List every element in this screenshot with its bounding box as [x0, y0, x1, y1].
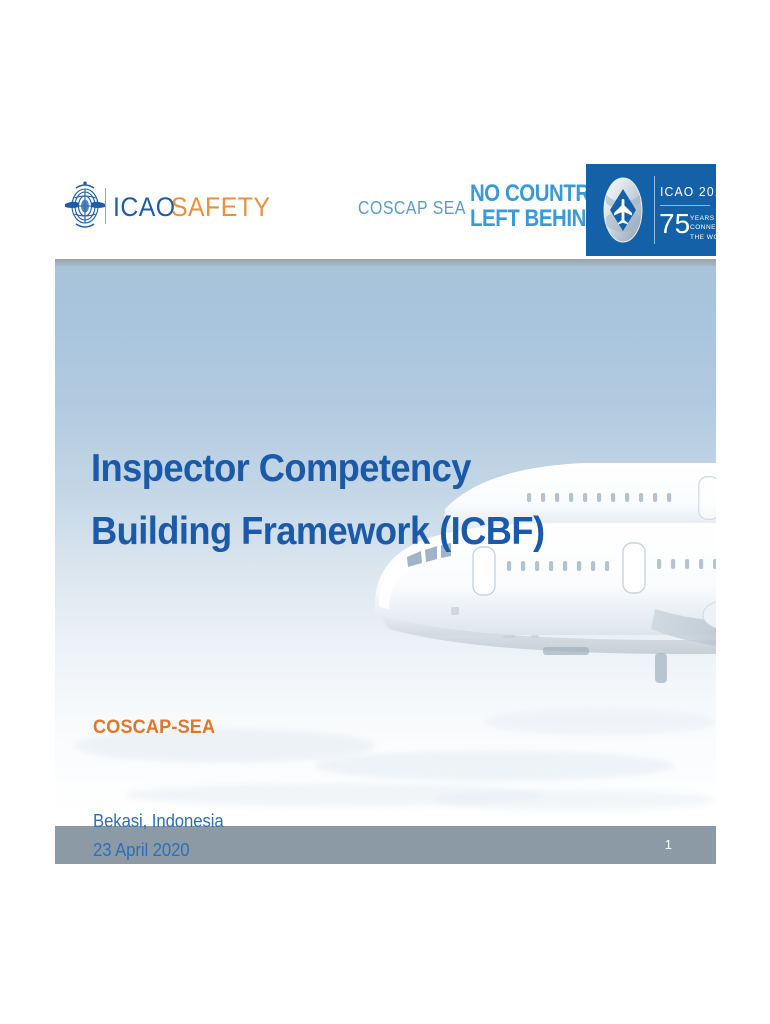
badge-tagline-line-1: YEARS OF [690, 214, 716, 223]
icao-emblem-icon [63, 180, 107, 232]
badge-tagline-line-3: THE WORLD [690, 233, 716, 242]
page-number: 1 [665, 837, 672, 852]
date-label: 23 April 2020 [93, 836, 224, 864]
badge-horizontal-divider [660, 205, 710, 206]
badge-anniversary-number: 75 [659, 210, 690, 238]
title-line-2: Building Framework (ICBF) [91, 500, 584, 563]
presentation-slide: ICAO SAFETY COSCAP SEA NO COUNTRY LEFT B… [55, 160, 716, 864]
badge-tagline: YEARS OF CONNECTING THE WORLD [690, 214, 716, 242]
cloud-band-2 [315, 751, 675, 781]
slide-body: Inspector Competency Building Framework … [55, 259, 716, 864]
slide-page: ICAO SAFETY COSCAP SEA NO COUNTRY LEFT B… [0, 0, 770, 1024]
badge-tagline-line-2: CONNECTING [690, 223, 716, 232]
safety-wordmark: SAFETY [171, 192, 270, 223]
icao-medal-icon [600, 175, 646, 245]
slide-meta: Bekasi, Indonesia 23 April 2020 [93, 807, 233, 864]
location-label: Bekasi, Indonesia [93, 807, 224, 836]
organization-label: COSCAP-SEA [93, 717, 215, 739]
badge-vertical-divider [654, 176, 655, 244]
cloud-band-5 [435, 789, 715, 811]
ncl-line-2: LEFT BEHIND [470, 207, 572, 232]
icao-wordmark: ICAO [113, 192, 176, 223]
no-country-left-behind-slogan: NO COUNTRY LEFT BEHIND [470, 182, 590, 232]
header-divider [105, 188, 106, 224]
body-top-strip [55, 259, 716, 266]
cloud-band-3 [485, 709, 715, 735]
badge-title: ICAO 2019 [660, 184, 716, 199]
icao-75-anniversary-badge: ICAO 2019 75 YEARS OF CONNECTING THE WOR… [586, 164, 716, 256]
ncl-line-1: NO COUNTRY [470, 182, 572, 207]
coscap-sea-header-label: COSCAP SEA [358, 198, 466, 219]
slide-header: ICAO SAFETY COSCAP SEA NO COUNTRY LEFT B… [55, 160, 716, 259]
slide-title: Inspector Competency Building Framework … [91, 437, 621, 563]
title-line-1: Inspector Competency [91, 437, 584, 500]
